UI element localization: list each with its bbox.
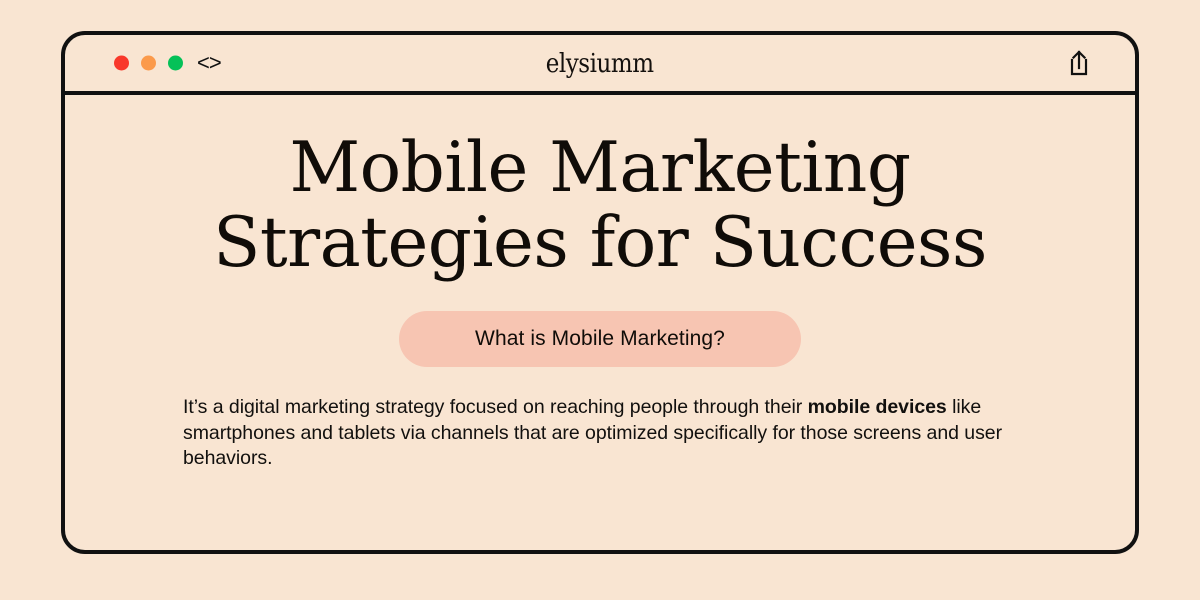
window-titlebar: <> elysiumm: [65, 35, 1135, 95]
brand-logo: elysiumm: [65, 49, 1135, 78]
page-title: Mobile Marketing Strategies for Success: [65, 95, 1135, 280]
section-badge-wrap: What is Mobile Marketing?: [65, 311, 1135, 367]
body-paragraph: It’s a digital marketing strategy focuse…: [183, 395, 1017, 472]
body-text-part-1: It’s a digital marketing strategy focuse…: [183, 396, 808, 418]
body-text-emphasis: mobile devices: [808, 396, 947, 418]
section-badge[interactable]: What is Mobile Marketing?: [399, 311, 801, 367]
page-title-line-2: Strategies for Success: [65, 206, 1135, 281]
share-icon[interactable]: [1067, 50, 1091, 76]
brand-logo-text: elysiumm: [546, 48, 654, 79]
page-title-line-1: Mobile Marketing: [65, 131, 1135, 206]
browser-window: <> elysiumm Mobile Marketing Strategies …: [61, 31, 1139, 554]
window-content: Mobile Marketing Strategies for Success …: [65, 95, 1135, 546]
